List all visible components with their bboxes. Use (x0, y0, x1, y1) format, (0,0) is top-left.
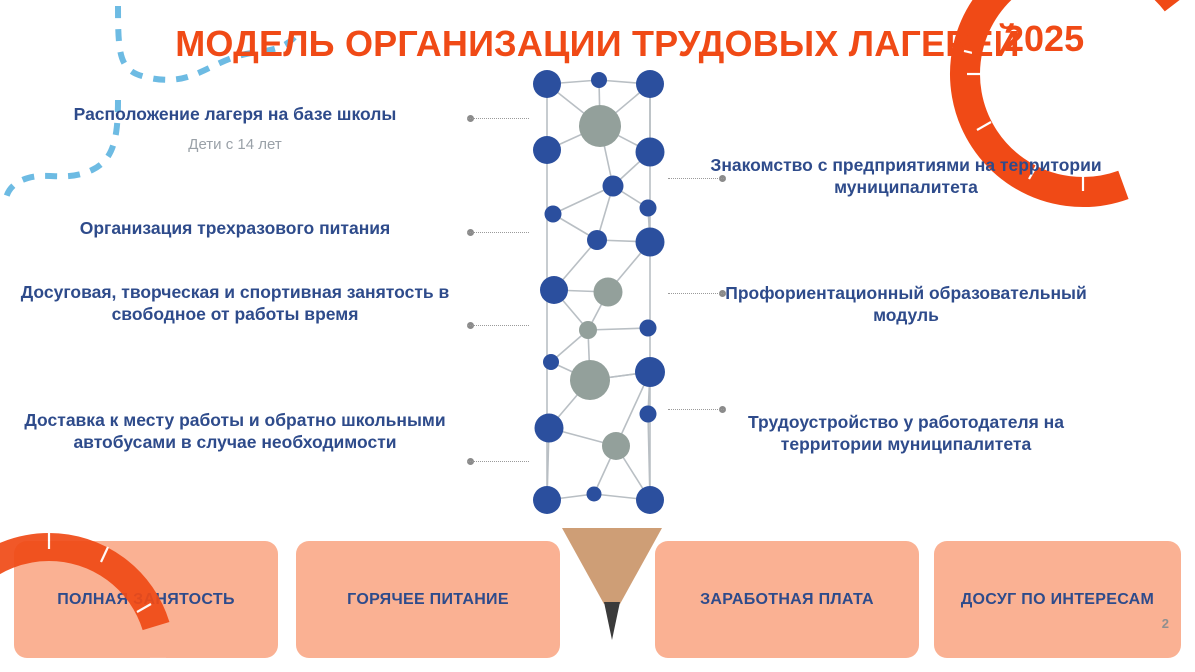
benefit-card-label: ГОРЯЧЕЕ ПИТАНИЕ (347, 591, 509, 609)
benefit-card-label: ДОСУГ ПО ИНТЕРЕСАМ (961, 591, 1154, 609)
benefit-card-label: ПОЛНАЯ ЗАНЯТОСТЬ (57, 591, 235, 609)
page-title-text: МОДЕЛЬ ОРГАНИЗАЦИИ ТРУДОВЫХ ЛАГЕРЕЙ (175, 23, 1020, 65)
feature-label-left-3: Досуговая, творческая и спортивная занят… (10, 282, 460, 325)
feature-label-right-2: Профориентационный образовательный модул… (706, 283, 1106, 326)
connector-line (467, 232, 529, 233)
connector-line (467, 118, 529, 119)
page-number: 2 (1162, 616, 1169, 631)
feature-label-right-1: Знакомство с предприятиями на территории… (706, 155, 1106, 198)
connector-line (668, 409, 726, 410)
slide-canvas: МОДЕЛЬ ОРГАНИЗАЦИИ ТРУДОВЫХ ЛАГЕРЕЙ 2025 (0, 0, 1195, 672)
feature-label-right-3: Трудоустройство у работодателя на террит… (706, 412, 1106, 455)
connector-left-4 (467, 460, 529, 463)
benefit-card-label: ЗАРАБОТНАЯ ПЛАТА (700, 591, 874, 609)
year-badge: 2025 (1004, 18, 1084, 60)
connector-right-3 (668, 408, 726, 411)
connector-line (467, 461, 529, 462)
feature-label-left-1-subtitle: Дети с 14 лет (10, 136, 460, 153)
benefit-card-full-employment[interactable]: ПОЛНАЯ ЗАНЯТОСТЬ (14, 541, 278, 658)
feature-label-left-2: Организация трехразового питания (10, 218, 460, 240)
benefit-cards-row: ПОЛНАЯ ЗАНЯТОСТЬ ГОРЯЧЕЕ ПИТАНИЕ ЗАРАБОТ… (0, 541, 1195, 658)
feature-label-left-1: Расположение лагеря на базе школы (10, 104, 460, 126)
connector-line (467, 325, 529, 326)
benefit-card-wages[interactable]: ЗАРАБОТНАЯ ПЛАТА (655, 541, 919, 658)
connector-left-1 (467, 117, 529, 120)
connector-left-3 (467, 324, 529, 327)
feature-label-left-4: Доставка к месту работы и обратно школьн… (10, 410, 460, 453)
benefit-card-hot-meals[interactable]: ГОРЯЧЕЕ ПИТАНИЕ (296, 541, 560, 658)
network-graph-diagram (524, 62, 674, 520)
benefit-card-leisure[interactable]: ДОСУГ ПО ИНТЕРЕСАМ (934, 541, 1181, 658)
connector-left-2 (467, 231, 529, 234)
